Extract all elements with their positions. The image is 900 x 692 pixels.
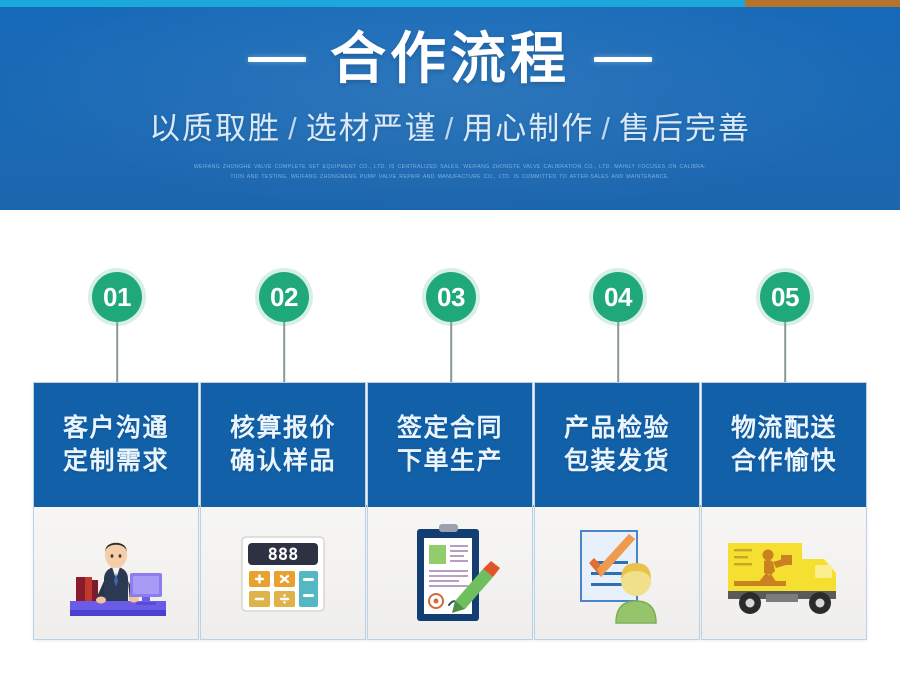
step-number-badge-01: 01	[92, 272, 142, 322]
subtitle-part-3: 用心制作	[462, 111, 594, 146]
step-card-illustration-04	[535, 507, 699, 639]
step-card-line1-02: 核算报价	[230, 412, 336, 445]
step-card-line2-02: 确认样品	[230, 445, 336, 478]
step-number-badge-04: 04	[593, 272, 643, 322]
step-card-illustration-02: 888	[201, 507, 365, 639]
step-card-line1-03: 签定合同	[397, 412, 503, 445]
step-card-02[interactable]: 核算报价 确认样品 888	[200, 382, 366, 640]
subtitle-part-4: 售后完善	[619, 111, 751, 146]
subtitle-separator-3: /	[601, 111, 612, 146]
timeline-steps: 01 客户沟通 定制需求	[0, 210, 900, 692]
step-card-line2-04: 包装发货	[564, 445, 670, 478]
step-card-line1-01: 客户沟通	[63, 412, 169, 445]
step-connector-02	[283, 322, 285, 382]
checklist-person-icon	[561, 519, 673, 627]
banner-subtitle: 以质取胜/选材严谨/用心制作/售后完善	[149, 103, 751, 148]
calculator-display-value: 888	[268, 545, 299, 565]
subtitle-separator-2: /	[445, 111, 456, 146]
delivery-truck-icon	[720, 527, 848, 619]
banner-english-line-1: WEIFANG ZHONGHE VALVE COMPLETE SET EQUIP…	[130, 162, 770, 172]
step-card-01[interactable]: 客户沟通 定制需求	[33, 382, 199, 640]
process-timeline: 01 客户沟通 定制需求	[0, 210, 900, 692]
step-number-badge-05: 05	[760, 272, 810, 322]
page-title: 合作流程	[330, 31, 570, 87]
step-connector-04	[617, 322, 619, 382]
step-card-03[interactable]: 签定合同 下单生产	[367, 382, 533, 640]
subtitle-part-1: 以质取胜	[149, 111, 281, 146]
title-dash-left	[248, 57, 306, 62]
step-card-line1-04: 产品检验	[564, 412, 670, 445]
banner-english-line-2: TION AND TESTING. WEIFANG ZHONGNENG PUMP…	[130, 172, 770, 182]
step-card-05[interactable]: 物流配送 合作愉快	[701, 382, 867, 640]
step-card-header-04: 产品检验 包装发货	[535, 383, 699, 507]
subtitle-part-2: 选材严谨	[306, 111, 438, 146]
step-card-header-02: 核算报价 确认样品	[201, 383, 365, 507]
subtitle-separator-1: /	[288, 111, 299, 146]
step-card-illustration-03	[368, 507, 532, 639]
step-card-line2-05: 合作愉快	[731, 445, 837, 478]
step-card-line1-05: 物流配送	[731, 412, 837, 445]
step-card-header-03: 签定合同 下单生产	[368, 383, 532, 507]
page-banner: 合作流程 以质取胜/选材严谨/用心制作/售后完善 WEIFANG ZHONGHE…	[0, 7, 900, 210]
step-connector-03	[450, 322, 452, 382]
banner-english-caption: WEIFANG ZHONGHE VALVE COMPLETE SET EQUIP…	[130, 162, 770, 182]
step-connector-05	[784, 322, 786, 382]
step-card-line2-01: 定制需求	[63, 445, 169, 478]
step-card-04[interactable]: 产品检验 包装发货	[534, 382, 700, 640]
top-accent-strip-orange	[745, 0, 900, 7]
step-connector-01	[116, 322, 118, 382]
step-number-badge-02: 02	[259, 272, 309, 322]
step-card-header-01: 客户沟通 定制需求	[34, 383, 198, 507]
contract-clipboard-pen-icon	[397, 515, 503, 631]
step-card-illustration-01	[34, 507, 198, 639]
calculator-icon: 888	[228, 521, 338, 625]
title-dash-right	[594, 57, 652, 62]
step-number-badge-03: 03	[426, 272, 476, 322]
businessman-at-computer-icon	[54, 517, 178, 629]
banner-title-row: 合作流程	[248, 31, 652, 87]
step-card-illustration-05	[702, 507, 866, 639]
step-card-line2-03: 下单生产	[397, 445, 503, 478]
step-card-header-05: 物流配送 合作愉快	[702, 383, 866, 507]
